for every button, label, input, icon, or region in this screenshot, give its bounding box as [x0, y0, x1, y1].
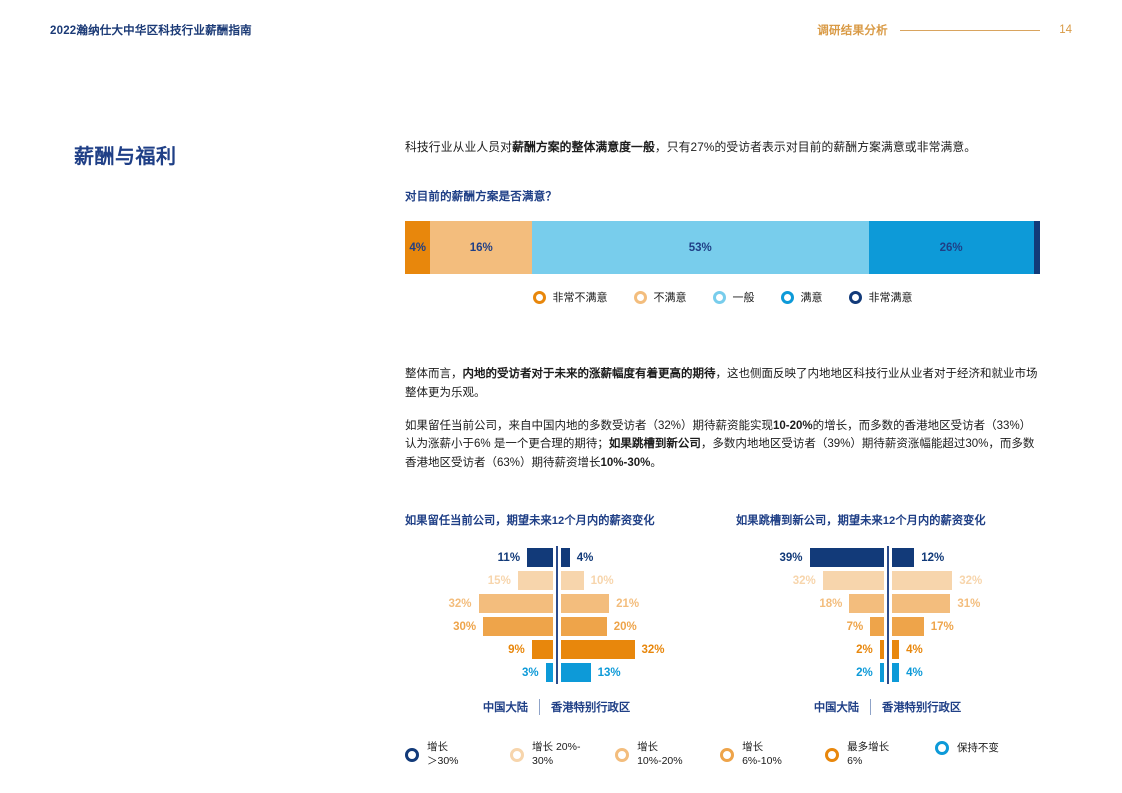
butterfly-half-left: 9%: [405, 638, 557, 661]
butterfly-value-right: 20%: [614, 621, 637, 633]
butterfly-half-right: 31%: [888, 592, 1040, 615]
butterfly-half-left: 7%: [736, 615, 888, 638]
butterfly-half-left: 2%: [736, 638, 888, 661]
legend-ring-icon: [720, 748, 734, 762]
legend-ring-icon: [825, 748, 839, 762]
lead-paragraph: 科技行业从业人员对薪酬方案的整体满意度一般，只有27%的受访者表示对目前的薪酬方…: [405, 138, 1040, 156]
butterfly-bar-right: [561, 640, 635, 659]
butterfly-value-right: 10%: [591, 575, 614, 587]
legend-item-label: 不满意: [654, 289, 687, 305]
legend-ring-icon: [510, 748, 524, 762]
butterfly-value-left: 3%: [522, 667, 539, 679]
butterfly-bar-right: [892, 617, 924, 636]
legend-item-0: 非常不满意: [533, 289, 608, 305]
paragraph-two: 如果留任当前公司，来自中国内地的多数受访者（32%）期待薪资能实现10-20%的…: [405, 417, 1040, 473]
butterfly-value-left: 30%: [453, 621, 476, 633]
butterfly-legend-item-2: 增长10%-20%: [615, 741, 720, 768]
header-divider-line: [900, 30, 1040, 31]
butterfly-row: 11%4%: [405, 546, 708, 569]
legend-item-3: 满意: [781, 289, 823, 305]
butterfly-row: 9%32%: [405, 638, 708, 661]
butterfly-row: 3%13%: [405, 661, 708, 684]
page-title: 薪酬与福利: [74, 140, 177, 169]
axis-label-mainland: 中国大陆: [483, 699, 539, 715]
butterfly-value-left: 2%: [856, 667, 873, 679]
butterfly-legend-item-5: 保持不变: [935, 741, 1040, 755]
butterfly-bar-left: [810, 548, 884, 567]
satisfaction-chart: 4%16%53%26%1% 非常不满意不满意一般满意非常满意: [405, 221, 1040, 305]
butterfly-half-right: 4%: [557, 546, 709, 569]
butterfly-row: 15%10%: [405, 569, 708, 592]
butterfly-bar-left: [483, 617, 552, 636]
butterfly-half-left: 11%: [405, 546, 557, 569]
butterfly-half-right: 13%: [557, 661, 709, 684]
butterfly-legend-item-0: 增长＞30%: [405, 741, 510, 768]
butterfly-half-left: 39%: [736, 546, 888, 569]
butterfly-bar-right: [892, 594, 951, 613]
butterfly-value-right: 21%: [616, 598, 639, 610]
butterfly-value-right: 13%: [598, 667, 621, 679]
header-right: 调研结果分析 14: [817, 22, 1072, 38]
butterfly-value-right: 12%: [921, 552, 944, 564]
butterfly-bar-left: [527, 548, 552, 567]
header-section-label: 调研结果分析: [817, 22, 888, 38]
butterfly-half-right: 4%: [888, 661, 1040, 684]
butterfly-bar-left: [849, 594, 883, 613]
butterfly-half-left: 3%: [405, 661, 557, 684]
butterfly-bar-right: [561, 663, 591, 682]
butterfly-charts-zone: 如果留任当前公司，期望未来12个月内的薪资变化 11%4%15%10%32%21…: [405, 512, 1040, 715]
butterfly-bar-left: [479, 594, 553, 613]
butterfly-half-right: 32%: [888, 569, 1040, 592]
butterfly-bar-left: [870, 617, 883, 636]
legend-item-2: 一般: [713, 289, 755, 305]
butterfly-row: 32%21%: [405, 592, 708, 615]
p2-bold-3: 10%-30%: [601, 457, 651, 469]
butterfly-bar-right: [561, 594, 610, 613]
butterfly-row: 7%17%: [736, 615, 1039, 638]
legend-ring-icon: [935, 741, 949, 755]
butterfly-half-left: 32%: [405, 592, 557, 615]
stacked-bar-segment-value: 53%: [689, 242, 712, 254]
butterfly-bar-right: [561, 548, 570, 567]
butterfly-half-right: 17%: [888, 615, 1040, 638]
legend-ring-icon: [713, 291, 726, 304]
legend-ring-icon: [615, 748, 629, 762]
butterfly-new-axis-labels: 中国大陆 香港特别行政区: [736, 699, 1039, 715]
butterfly-bar-right: [892, 640, 900, 659]
butterfly-half-left: 2%: [736, 661, 888, 684]
butterfly-value-right: 4%: [906, 667, 923, 679]
butterfly-bar-left: [518, 571, 553, 590]
stacked-bar-segment-value: 4%: [409, 242, 426, 254]
butterfly-legend-label: 保持不变: [957, 742, 999, 755]
butterfly-half-left: 18%: [736, 592, 888, 615]
p1-bold-1: 内地的受访者对于未来的涨薪幅度有着更高的期待: [463, 368, 716, 380]
p2-text-a: 如果留任当前公司，来自中国内地的多数受访者（32%）期待薪资能实现: [405, 420, 773, 432]
butterfly-half-right: 4%: [888, 638, 1040, 661]
butterfly-legend: 增长＞30%增长 20%-30%增长10%-20%增长6%-10%最多增长6%保…: [405, 741, 1040, 768]
butterfly-stay-title: 如果留任当前公司，期望未来12个月内的薪资变化: [405, 512, 708, 528]
legend-item-label: 满意: [801, 289, 823, 305]
document-title: 2022瀚纳仕大中华区科技行业薪酬指南: [50, 22, 252, 38]
stacked-bar-segment-value: 16%: [470, 242, 493, 254]
p2-text-e: 。: [650, 457, 662, 469]
p2-bold-2: 如果跳槽到新公司: [609, 438, 701, 450]
axis-label-hongkong: 香港特别行政区: [870, 699, 961, 715]
butterfly-value-right: 4%: [906, 644, 923, 656]
legend-item-label: 一般: [733, 289, 755, 305]
butterfly-half-left: 15%: [405, 569, 557, 592]
butterfly-legend-label: 增长＞30%: [427, 741, 459, 768]
stacked-bar-segment-3: 26%: [869, 221, 1034, 274]
legend-ring-icon: [781, 291, 794, 304]
butterfly-chart-stay: 如果留任当前公司，期望未来12个月内的薪资变化 11%4%15%10%32%21…: [405, 512, 708, 715]
butterfly-new-title: 如果跳槽到新公司，期望未来12个月内的薪资变化: [736, 512, 1039, 528]
p1-text-a: 整体而言，: [405, 368, 463, 380]
stacked-bar-segment-0: 4%: [405, 221, 430, 274]
butterfly-value-left: 7%: [847, 621, 864, 633]
butterfly-half-left: 30%: [405, 615, 557, 638]
legend-ring-icon: [405, 748, 419, 762]
butterfly-value-left: 15%: [488, 575, 511, 587]
butterfly-value-left: 32%: [793, 575, 816, 587]
butterfly-row: 2%4%: [736, 661, 1039, 684]
legend-item-4: 非常满意: [849, 289, 913, 305]
butterfly-chart-new: 如果跳槽到新公司，期望未来12个月内的薪资变化 39%12%32%32%18%3…: [736, 512, 1039, 715]
butterfly-value-right: 31%: [957, 598, 980, 610]
lead-bold-1: 薪酬方案的整体满意度一般: [512, 140, 655, 154]
axis-label-mainland: 中国大陆: [814, 699, 870, 715]
butterfly-half-right: 21%: [557, 592, 709, 615]
butterfly-value-right: 17%: [931, 621, 954, 633]
butterfly-value-left: 18%: [819, 598, 842, 610]
p2-bold-1: 10-20%: [773, 420, 813, 432]
butterfly-legend-label: 增长6%-10%: [742, 741, 782, 768]
butterfly-row: 39%12%: [736, 546, 1039, 569]
butterfly-bar-right: [892, 571, 953, 590]
butterfly-new-rows: 39%12%32%32%18%31%7%17%2%4%2%4%: [736, 546, 1039, 684]
stacked-bar-segment-value: 26%: [940, 242, 963, 254]
butterfly-stay-axis-labels: 中国大陆 香港特别行政区: [405, 699, 708, 715]
butterfly-value-left: 39%: [779, 552, 802, 564]
butterfly-legend-label: 增长10%-20%: [637, 741, 683, 768]
butterfly-value-left: 32%: [448, 598, 471, 610]
butterfly-value-right: 32%: [642, 644, 665, 656]
butterfly-value-left: 9%: [508, 644, 525, 656]
legend-item-label: 非常不满意: [553, 289, 608, 305]
butterfly-legend-label: 最多增长6%: [847, 741, 889, 768]
stacked-bar-segment-2: 53%: [532, 221, 869, 274]
stacked-bar: 4%16%53%26%1%: [405, 221, 1040, 274]
butterfly-legend-label: 增长 20%-30%: [532, 741, 580, 768]
legend-ring-icon: [533, 291, 546, 304]
butterfly-bar-left: [880, 640, 884, 659]
legend-item-label: 非常满意: [869, 289, 913, 305]
butterfly-legend-item-1: 增长 20%-30%: [510, 741, 615, 768]
paragraph-one: 整体而言，内地的受访者对于未来的涨薪幅度有着更高的期待，这也侧面反映了内地地区科…: [405, 365, 1040, 402]
butterfly-bar-left: [546, 663, 553, 682]
butterfly-bar-left: [823, 571, 884, 590]
butterfly-row: 18%31%: [736, 592, 1039, 615]
butterfly-legend-item-4: 最多增长6%: [825, 741, 935, 768]
butterfly-half-right: 10%: [557, 569, 709, 592]
butterfly-stay-rows: 11%4%15%10%32%21%30%20%9%32%3%13%: [405, 546, 708, 684]
butterfly-bar-right: [561, 571, 584, 590]
stacked-bar-segment-4: 1%: [1034, 221, 1040, 274]
page-root: 2022瀚纳仕大中华区科技行业薪酬指南 调研结果分析 14 薪酬与福利 科技行业…: [0, 0, 1122, 793]
page-number: 14: [1052, 24, 1072, 36]
butterfly-bar-right: [892, 548, 915, 567]
butterfly-legend-item-3: 增长6%-10%: [720, 741, 825, 768]
butterfly-half-left: 32%: [736, 569, 888, 592]
butterfly-half-right: 32%: [557, 638, 709, 661]
butterfly-bar-right: [561, 617, 607, 636]
butterfly-half-right: 12%: [888, 546, 1040, 569]
satisfaction-legend: 非常不满意不满意一般满意非常满意: [405, 289, 1040, 305]
satisfaction-chart-title: 对目前的薪酬方案是否满意？: [405, 188, 1040, 204]
legend-ring-icon: [634, 291, 647, 304]
butterfly-bar-right: [892, 663, 900, 682]
butterfly-row: 2%4%: [736, 638, 1039, 661]
butterfly-row: 32%32%: [736, 569, 1039, 592]
lead-text-2: ，只有27%的受访者表示对目前的薪酬方案满意或非常满意。: [655, 140, 976, 154]
butterfly-value-right: 4%: [577, 552, 594, 564]
butterfly-half-right: 20%: [557, 615, 709, 638]
butterfly-value-left: 2%: [856, 644, 873, 656]
butterfly-value-right: 32%: [959, 575, 982, 587]
stacked-bar-segment-1: 16%: [430, 221, 532, 274]
butterfly-bar-left: [880, 663, 884, 682]
axis-label-hongkong: 香港特别行政区: [539, 699, 630, 715]
legend-item-1: 不满意: [634, 289, 687, 305]
butterfly-bar-left: [532, 640, 553, 659]
butterfly-value-left: 11%: [498, 552, 520, 564]
lead-text-1: 科技行业从业人员对: [405, 140, 512, 154]
legend-ring-icon: [849, 291, 862, 304]
butterfly-row: 30%20%: [405, 615, 708, 638]
content-column: 科技行业从业人员对薪酬方案的整体满意度一般，只有27%的受访者表示对目前的薪酬方…: [405, 138, 1040, 768]
